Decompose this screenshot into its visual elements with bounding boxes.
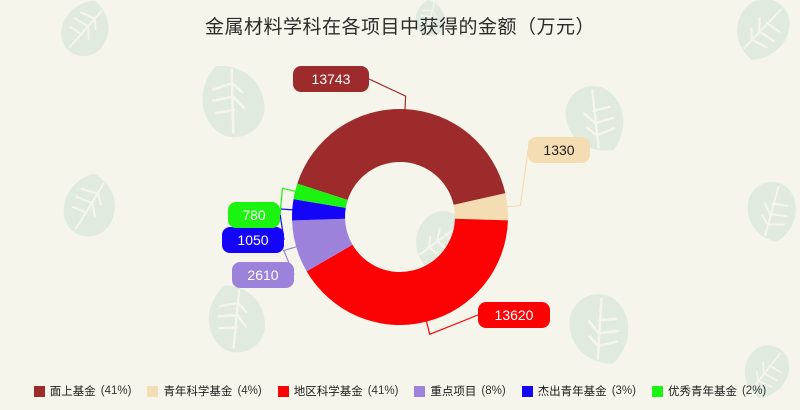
legend-swatch-icon (278, 386, 289, 397)
legend-swatch-icon (147, 386, 158, 397)
data-label-value: 780 (242, 208, 265, 222)
data-label-diqu-kexue: 13620 (478, 302, 550, 328)
legend-percent: (4%) (237, 385, 261, 397)
legend-percent: (8%) (481, 385, 505, 397)
data-label-jiechu-qingnian: 1050 (222, 227, 284, 253)
leader-line (369, 79, 406, 112)
legend-percent: (2%) (742, 385, 766, 397)
data-label-value: 13743 (312, 72, 351, 86)
data-label-value: 2610 (247, 268, 278, 282)
leader-line (505, 150, 528, 207)
legend-percent: (41%) (368, 385, 399, 397)
legend-label: 青年科学基金 (163, 383, 232, 399)
legend-item[interactable]: 杰出青年基金(3%) (522, 383, 636, 399)
legend-percent: (3%) (612, 385, 636, 397)
legend-item[interactable]: 地区科学基金(41%) (278, 383, 399, 399)
legend-swatch-icon (652, 386, 663, 397)
legend-swatch-icon (34, 386, 45, 397)
legend-swatch-icon (414, 386, 425, 397)
data-label-mianshang: 13743 (293, 66, 369, 92)
legend-label: 面上基金 (50, 383, 96, 399)
legend-item[interactable]: 面上基金(41%) (34, 383, 132, 399)
legend-label: 地区科学基金 (294, 383, 363, 399)
legend-label: 优秀青年基金 (668, 383, 737, 399)
data-label-value: 13620 (495, 308, 534, 322)
data-label-qingnian-kexue: 1330 (528, 137, 590, 163)
legend-item[interactable]: 青年科学基金(4%) (147, 383, 261, 399)
legend-swatch-icon (522, 386, 533, 397)
pie-slices (292, 109, 508, 325)
chart-legend: 面上基金(41%)青年科学基金(4%)地区科学基金(41%)重点项目(8%)杰出… (0, 383, 800, 399)
legend-percent: (41%) (101, 385, 132, 397)
legend-label: 重点项目 (430, 383, 476, 399)
pie-slice[interactable] (297, 109, 505, 205)
legend-item[interactable]: 优秀青年基金(2%) (652, 383, 766, 399)
legend-label: 杰出青年基金 (538, 383, 607, 399)
legend-item[interactable]: 重点项目(8%) (414, 383, 505, 399)
data-label-value: 1330 (543, 143, 574, 157)
data-label-youxiu-qingnian: 780 (228, 202, 280, 228)
donut-chart (0, 0, 800, 410)
data-label-value: 1050 (237, 233, 268, 247)
data-label-zhongdian: 2610 (232, 262, 294, 288)
